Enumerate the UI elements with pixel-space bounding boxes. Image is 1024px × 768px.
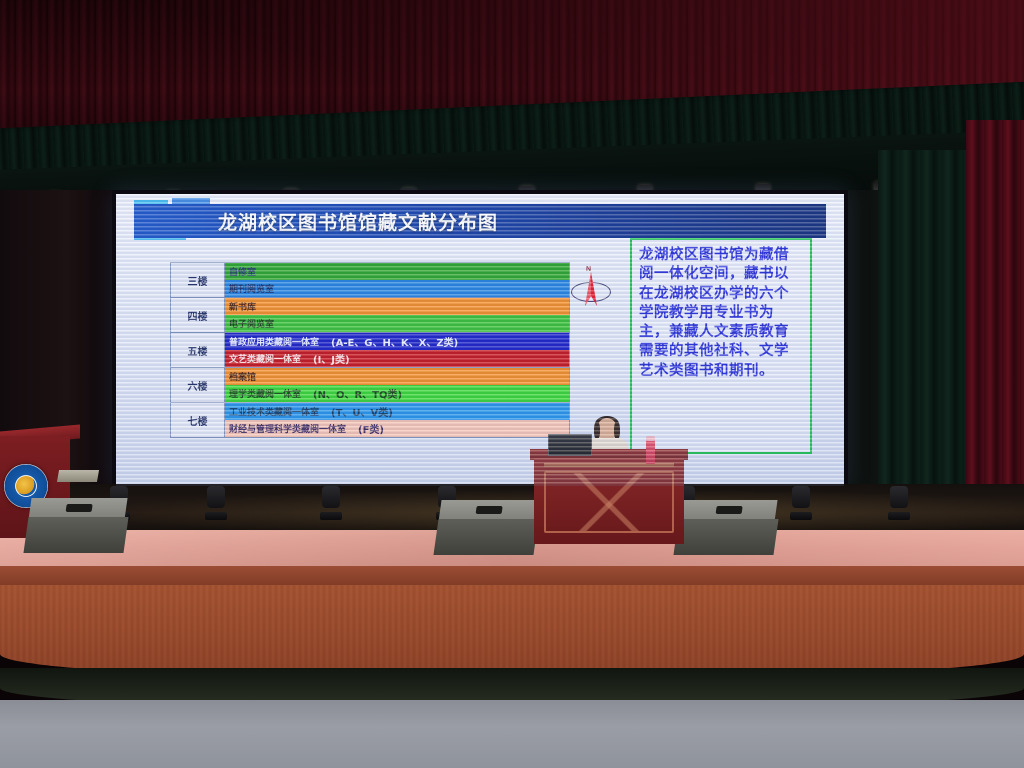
room-band: 档案馆 [225, 368, 569, 385]
room-name: 自修室 [229, 265, 256, 278]
led-screen: 龙湖校区图书馆馆藏文献分布图 三楼自修室期刊阅览室四楼新书库电子阅览室五楼普政应… [112, 190, 848, 490]
moving-head-light [790, 486, 812, 520]
room-band: 新书库 [225, 298, 569, 315]
floor-distribution-table: 三楼自修室期刊阅览室四楼新书库电子阅览室五楼普政应用类藏阅一体室(A-E、G、H… [170, 262, 570, 438]
table-row: 五楼普政应用类藏阅一体室(A-E、G、H、K、X、Z类)文艺类藏阅一体室(I、J… [171, 333, 570, 368]
presenter-hair-right [614, 422, 620, 439]
moving-head-light [320, 486, 342, 520]
floor-label: 六楼 [171, 368, 225, 403]
light-base [790, 512, 812, 520]
light-head [890, 486, 908, 508]
floor-rooms-cell: 工业技术类藏阅一体室(T、U、V类)财经与管理科学类藏阅一体室(F类) [225, 403, 570, 438]
floor-rooms-cell: 普政应用类藏阅一体室(A-E、G、H、K、X、Z类)文艺类藏阅一体室(I、J类) [225, 333, 570, 368]
room-name: 期刊阅览室 [229, 282, 274, 295]
room-name: 普政应用类藏阅一体室 [229, 335, 319, 348]
slide-note-text: 龙湖校区图书馆为藏借阅一体化空间，藏书以在龙湖校区办学的六个学院教学用专业书为主… [639, 246, 803, 381]
light-base [205, 512, 227, 520]
house-floor [0, 700, 1024, 768]
moving-head-light [205, 486, 227, 520]
light-base [320, 512, 342, 520]
room-band: 电子阅览室 [225, 315, 569, 332]
monitor-handle [66, 504, 93, 512]
monitor-face [433, 519, 538, 555]
floor-label: 五楼 [171, 333, 225, 368]
room-name: 档案馆 [229, 370, 256, 383]
room-band: 文艺类藏阅一体室(I、J类) [225, 350, 569, 367]
slide-note-box: 龙湖校区图书馆为藏借阅一体化空间，藏书以在龙湖校区办学的六个学院教学用专业书为主… [630, 238, 812, 454]
lectern-tabletop [57, 470, 99, 482]
slide-title-bar: 龙湖校区图书馆馆藏文献分布图 [134, 204, 826, 238]
floor-monitor-left [26, 498, 130, 556]
room-class-codes: (N、O、R、TQ类) [313, 386, 402, 401]
room-band: 期刊阅览室 [225, 280, 569, 297]
room-class-codes: (I、J类) [313, 351, 350, 366]
floor-label: 三楼 [171, 263, 225, 298]
auditorium-stage-photo: 龙湖校区图书馆馆藏文献分布图 三楼自修室期刊阅览室四楼新书库电子阅览室五楼普政应… [0, 0, 1024, 768]
room-band: 普政应用类藏阅一体室(A-E、G、H、K、X、Z类) [225, 333, 569, 350]
light-base [888, 512, 910, 520]
room-name: 财经与管理科学类藏阅一体室 [229, 422, 346, 435]
laptop-screen [548, 434, 592, 456]
room-band: 自修室 [225, 263, 569, 280]
light-head [207, 486, 225, 508]
thermos-cap [646, 436, 655, 441]
laptop-computer [548, 434, 594, 460]
podium-diamond-pattern [546, 473, 672, 531]
light-head [322, 486, 340, 508]
table-row: 四楼新书库电子阅览室 [171, 298, 570, 333]
presenter-hair-left [594, 422, 600, 439]
projected-slide: 龙湖校区图书馆馆藏文献分布图 三楼自修室期刊阅览室四楼新书库电子阅览室五楼普政应… [116, 194, 844, 486]
floor-monitor-center [436, 500, 540, 558]
room-name: 文艺类藏阅一体室 [229, 352, 301, 365]
floor-rooms-cell: 档案馆理学类藏阅一体室(N、O、R、TQ类) [225, 368, 570, 403]
red-thermos-bottle [646, 440, 655, 464]
floor-rooms-cell: 新书库电子阅览室 [225, 298, 570, 333]
floor-label: 七楼 [171, 403, 225, 438]
room-name: 电子阅览室 [229, 317, 274, 330]
monitor-handle [716, 506, 743, 514]
slide-title: 龙湖校区图书馆馆藏文献分布图 [218, 208, 498, 235]
podium-panel [544, 471, 674, 533]
monitor-face [673, 519, 778, 555]
compass-north-icon: N [568, 266, 614, 322]
podium-body [534, 458, 684, 544]
room-name: 新书库 [229, 300, 256, 313]
green-side-curtain [878, 150, 968, 540]
light-head [792, 486, 810, 508]
stage-apron [0, 585, 1024, 680]
room-band: 理学类藏阅一体室(N、O、R、TQ类) [225, 385, 569, 402]
room-class-codes: (T、U、V类) [331, 404, 393, 419]
monitor-handle [476, 506, 503, 514]
speaker-podium [534, 449, 684, 545]
table-row: 六楼档案馆理学类藏阅一体室(N、O、R、TQ类) [171, 368, 570, 403]
table-row: 七楼工业技术类藏阅一体室(T、U、V类)财经与管理科学类藏阅一体室(F类) [171, 403, 570, 438]
floor-monitor-right [676, 500, 780, 558]
room-name: 工业技术类藏阅一体室 [229, 405, 319, 418]
moving-head-light [888, 486, 910, 520]
room-class-codes: (A-E、G、H、K、X、Z类) [331, 334, 458, 349]
room-band: 财经与管理科学类藏阅一体室(F类) [225, 420, 569, 437]
room-name: 理学类藏阅一体室 [229, 387, 301, 400]
floor-rooms-cell: 自修室期刊阅览室 [225, 263, 570, 298]
monitor-face [23, 517, 128, 553]
table-row: 三楼自修室期刊阅览室 [171, 263, 570, 298]
room-class-codes: (F类) [358, 421, 384, 436]
room-band: 工业技术类藏阅一体室(T、U、V类) [225, 403, 569, 420]
floor-label: 四楼 [171, 298, 225, 333]
